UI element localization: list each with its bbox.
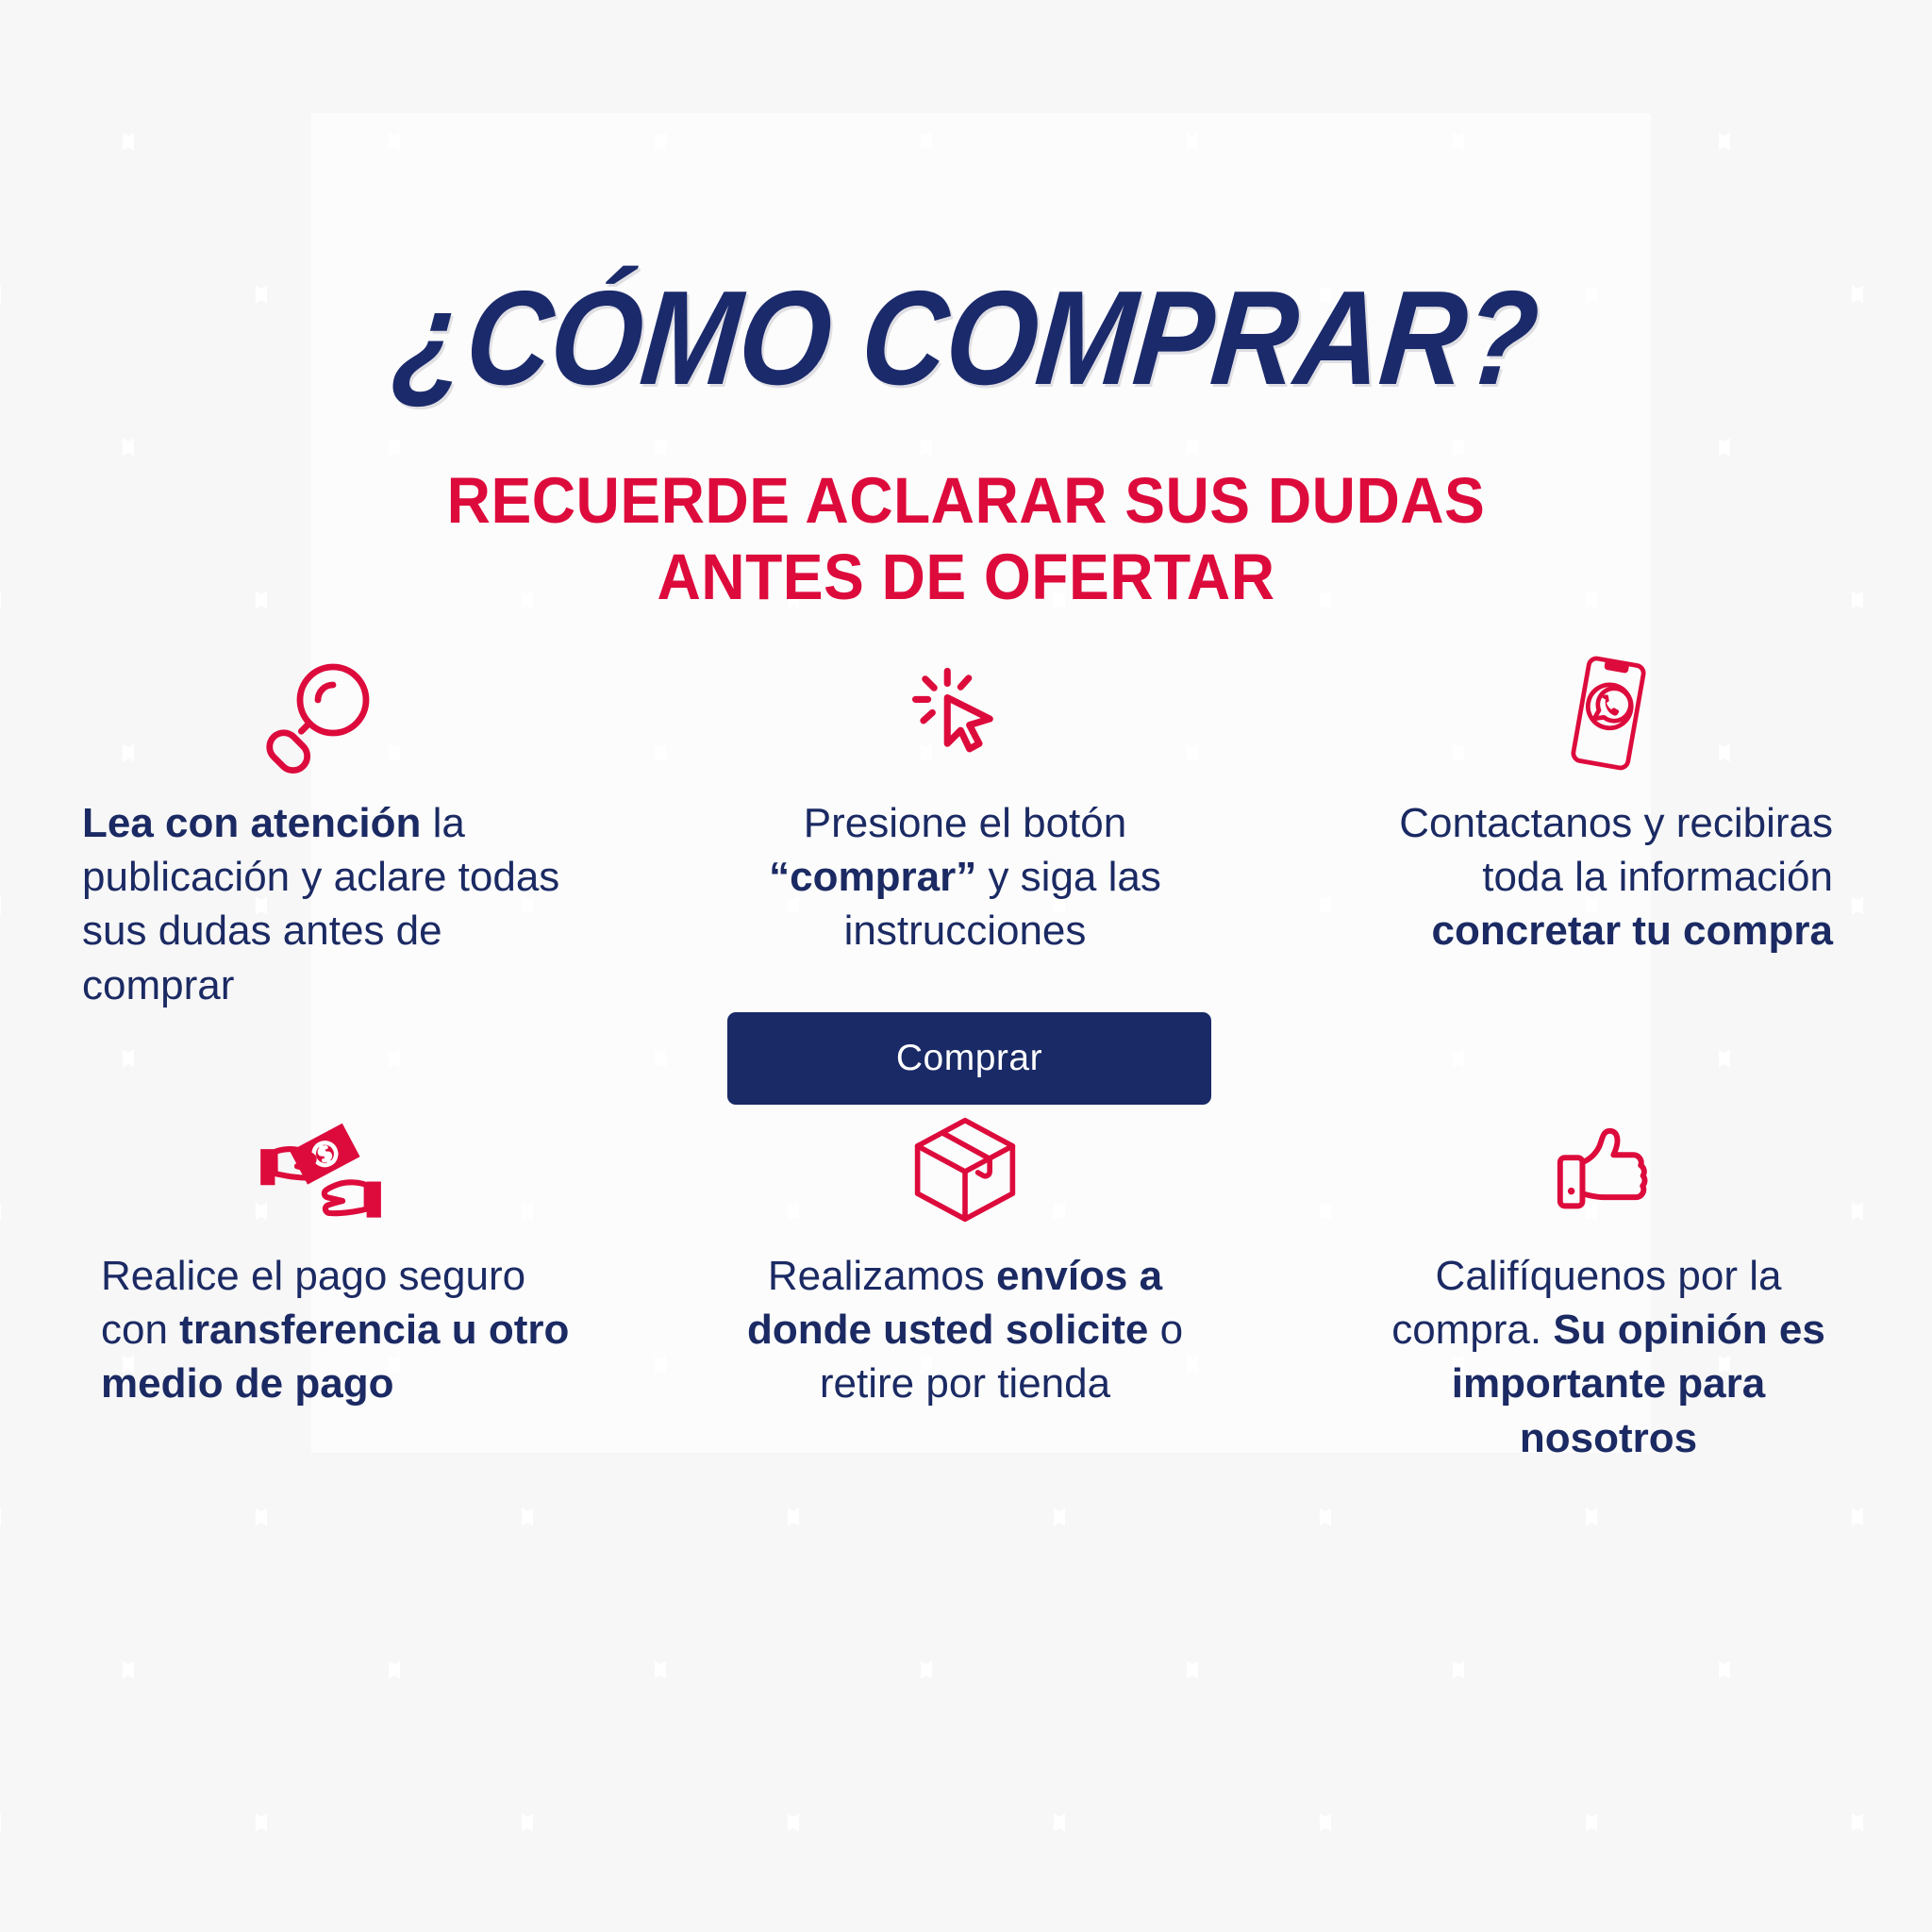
step-text: Realizamos envíos a donde usted solicite… [720,1249,1210,1411]
infographic-poster: ¿CÓMO COMPRAR? RECUERDE ACLARAR SUS DUDA… [0,0,1932,1932]
click-cursor-icon [908,651,1022,775]
comprar-button-label: Comprar [896,1038,1042,1079]
step-contact-us: Contactanos y recibiras toda la informac… [1287,651,1930,1104]
page-subtitle-line-2: ANTES DE OFERTAR [68,539,1865,615]
page-title: ¿CÓMO COMPRAR? [0,272,1932,406]
step-text: Lea con atención la publicación y aclare… [69,796,582,1012]
page-subtitle: RECUERDE ACLARAR SUS DUDAS ANTES DE OFER… [68,462,1865,616]
step-secure-payment: Realice el pago seguro con transferencia… [0,1104,643,1509]
step-rate-us: Califíquenos por la compra. Su opinión e… [1287,1104,1930,1509]
step-text: Califíquenos por la compra. Su opinión e… [1373,1249,1844,1465]
page-title-text: ¿CÓMO COMPRAR? [390,272,1543,406]
steps-row-bottom: Realice el pago seguro con transferencia… [0,1104,1932,1509]
step-shipping: Realizamos envíos a donde usted solicite… [643,1104,1287,1509]
step-text: Presione el botón “comprar” y siga las i… [720,796,1210,958]
package-box-icon [907,1104,1024,1228]
money-hands-icon [251,1104,392,1228]
whatsapp-phone-icon [1550,651,1667,775]
comprar-button[interactable]: Comprar [727,1012,1211,1105]
page-subtitle-line-1: RECUERDE ACLARAR SUS DUDAS [447,464,1486,537]
thumbs-up-icon [1549,1104,1668,1228]
step-text: Contactanos y recibiras toda la informac… [1361,796,1846,958]
step-text: Realice el pago seguro con transferencia… [88,1249,573,1411]
magnifier-icon [261,651,382,775]
step-read-carefully: Lea con atención la publicación y aclare… [0,651,643,1104]
